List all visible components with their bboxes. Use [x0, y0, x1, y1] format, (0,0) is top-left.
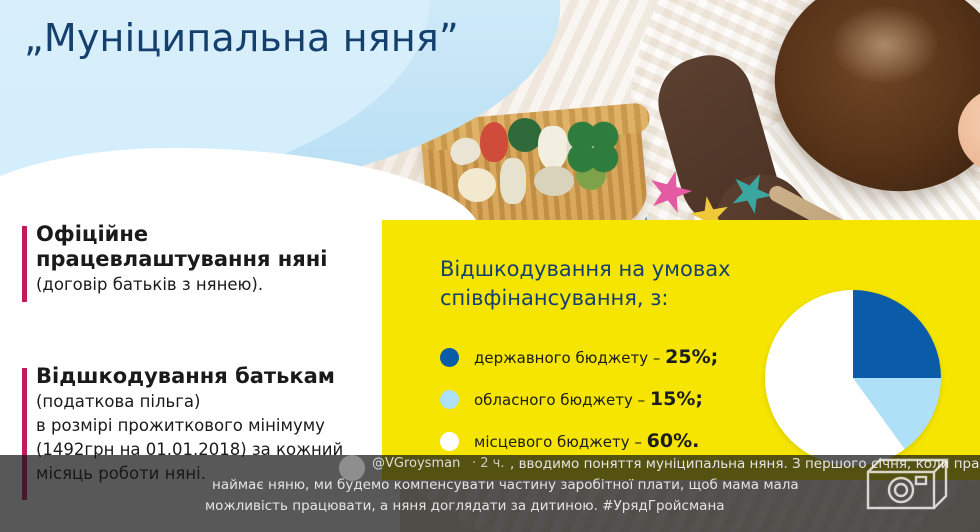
- bullet-headline-line1: Офіційне: [36, 222, 396, 247]
- chart-title-line1: Відшкодування на умовах: [440, 255, 780, 284]
- bullet-block-official-employment: Офіційне працевлаштування няні (договір …: [22, 222, 396, 296]
- legend-label-regional: обласного бюджету – 15%;: [474, 388, 703, 410]
- legend-label-local: місцевого бюджету – 60%.: [474, 430, 699, 452]
- legend-swatch-regional: [440, 390, 459, 409]
- bullet-headline-line2: працевлаштування няні: [36, 247, 396, 272]
- legend-item: обласного бюджету – 15%;: [440, 378, 760, 420]
- tweet-timestamp: · 2 ч.: [472, 456, 504, 471]
- tweet-text-line3: можливість працювати, а няня доглядати з…: [205, 498, 725, 514]
- tweet-text-line2: наймає няню, ми будемо компенсувати част…: [212, 477, 799, 493]
- toy-vegetable: [480, 122, 508, 162]
- toy-vegetable: [508, 118, 542, 152]
- legend-label-state: державного бюджету – 25%;: [474, 346, 718, 368]
- bullet-detail: (договір батьків з нянею).: [36, 274, 396, 296]
- chart-legend: державного бюджету – 25%; обласного бюдж…: [440, 336, 760, 462]
- bullet-detail-line2: в розмірі прожиткового мінімуму: [36, 415, 408, 437]
- pie-chart-graphic: [765, 290, 941, 466]
- baby-hair-highlight: [830, 5, 940, 85]
- clover-toy: [566, 120, 620, 174]
- camera-icon: [862, 452, 950, 514]
- pie-chart: [765, 290, 941, 466]
- legend-swatch-local: [440, 432, 459, 451]
- chart-title: Відшкодування на умовах співфінансування…: [440, 255, 780, 313]
- toy-vegetable: [458, 168, 496, 202]
- tweet-handle[interactable]: @VGroysman: [372, 456, 460, 471]
- chart-title-line2: співфінансування, з:: [440, 284, 780, 313]
- toy-vegetable: [538, 126, 568, 170]
- slide-title: „Муніципальна няня”: [24, 16, 459, 60]
- toy-vegetable: [500, 158, 526, 204]
- legend-item: державного бюджету – 25%;: [440, 336, 760, 378]
- accent-bar: [22, 226, 27, 302]
- slide-canvas: „Муніципальна няня” Офіційне працевлашту…: [0, 0, 980, 532]
- bullet-detail-line1: (податкова пільга): [36, 391, 408, 413]
- bullet-headline: Відшкодування батькам: [36, 364, 408, 389]
- legend-swatch-state: [440, 348, 459, 367]
